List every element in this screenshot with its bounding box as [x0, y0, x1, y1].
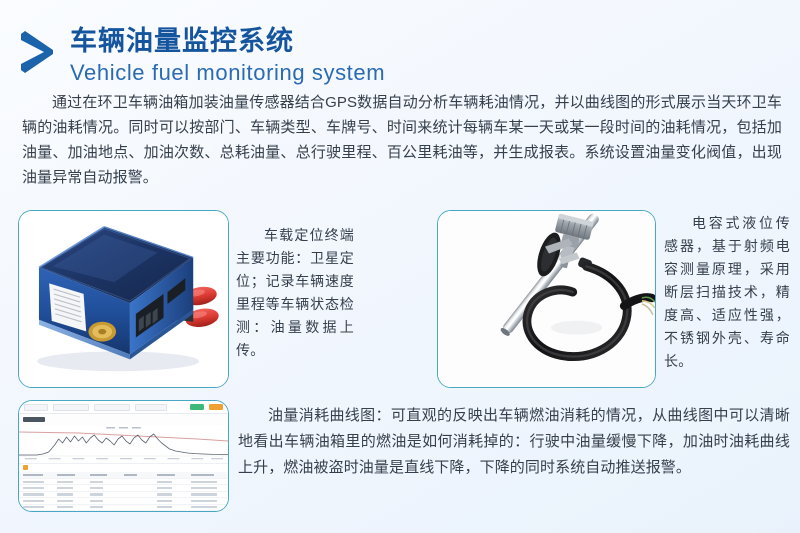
- table-header-cell: [57, 474, 91, 476]
- tracker-caption: 车载定位终端主要功能：卫星定位；记录车辆速度里程等车辆状态检测：油量数据上传。: [236, 224, 354, 362]
- table-row[interactable]: [19, 511, 228, 512]
- sensor-caption: 电容式液位传感器，基于射频电容测量原理，采用断层扫描技术，精度高、适应性强，不锈…: [664, 212, 790, 373]
- fuel-curve-chart: [19, 425, 228, 463]
- table-header-cell: [124, 474, 158, 476]
- poster-page: 车辆油量监控系统 Vehicle fuel monitoring system …: [0, 0, 800, 533]
- fuel-consumption-curve-screenshot: [19, 401, 228, 511]
- title-block: 车辆油量监控系统 Vehicle fuel monitoring system: [70, 26, 385, 87]
- table-header-cell: [157, 474, 191, 476]
- table-header-cell: [90, 474, 124, 476]
- mini-ui-data-table: [19, 472, 228, 511]
- page-title: 车辆油量监控系统: [70, 26, 385, 56]
- table-header-row: [19, 472, 228, 479]
- fuel-curve-screenshot-card: [18, 400, 229, 512]
- page-subtitle: Vehicle fuel monitoring system: [70, 59, 385, 87]
- department-select[interactable]: [24, 404, 48, 411]
- vehicle-label-tag: [23, 417, 45, 422]
- chevron-right-icon: [18, 30, 56, 74]
- query-button[interactable]: [190, 404, 204, 410]
- fuel-curve-caption: 油量消耗曲线图：可直观的反映出车辆燃油消耗的情况，从曲线图中可以清晰地看出车辆油…: [238, 403, 790, 481]
- plate-number-input[interactable]: [94, 404, 130, 411]
- mini-ui-toolbar: [19, 401, 228, 414]
- table-export-icon[interactable]: [23, 465, 28, 470]
- table-header-cell: [191, 474, 225, 476]
- export-button[interactable]: [209, 404, 223, 410]
- intro-paragraph: 通过在环卫车辆油箱加装油量传感器结合GPS数据自动分析车辆耗油情况，并以曲线图的…: [22, 90, 782, 190]
- vehicle-type-select[interactable]: [53, 404, 89, 411]
- page-header: 车辆油量监控系统 Vehicle fuel monitoring system: [18, 26, 385, 87]
- date-range-picker[interactable]: [135, 404, 167, 411]
- tracker-image-card: [18, 210, 229, 388]
- vehicle-gps-terminal-photo: [19, 211, 228, 387]
- sensor-image-card: [437, 210, 656, 388]
- capacitive-fuel-level-sensor-photo: [438, 211, 655, 387]
- table-header-cell: [23, 474, 57, 476]
